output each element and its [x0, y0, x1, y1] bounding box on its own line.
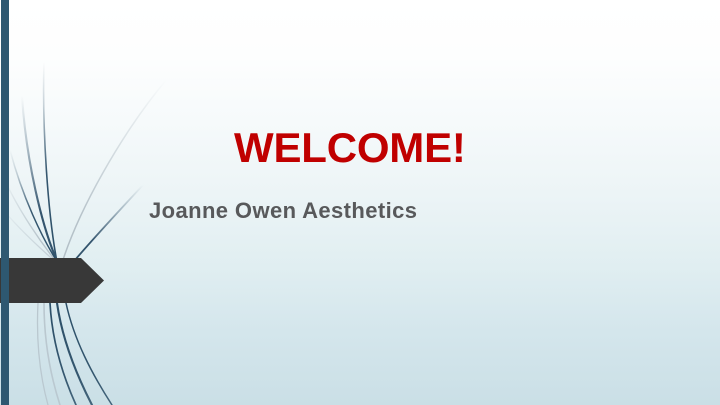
slide-subtitle: Joanne Owen Aesthetics: [149, 199, 417, 223]
page-title: WELCOME!: [234, 126, 466, 171]
presentation-slide: WELCOME! Joanne Owen Aesthetics: [0, 0, 720, 405]
slide-text-block: WELCOME! Joanne Owen Aesthetics: [0, 0, 720, 405]
